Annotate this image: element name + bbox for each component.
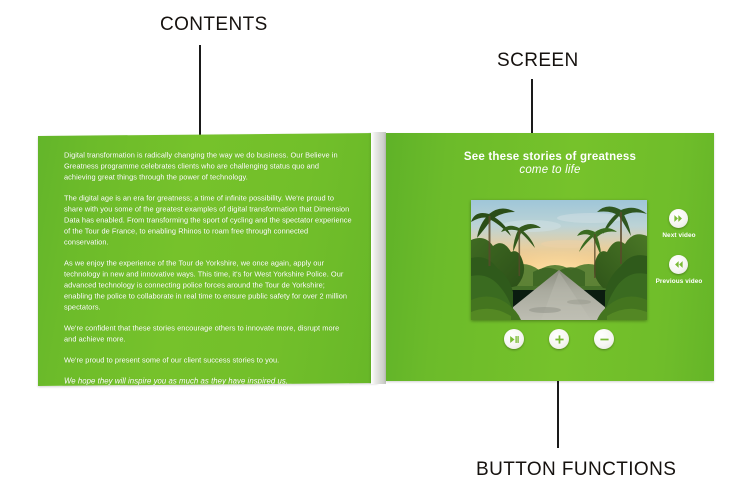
play-pause-icon [509,334,520,345]
letter-paragraph: We're proud to present some of our clien… [64,354,352,365]
letter-paragraph: The digital age is an era for greatness;… [64,192,352,247]
screenshot-canvas: CONTENTS SCREEN BUTTON FUNCTIONS Digital… [0,0,750,500]
tropical-road-scene [471,200,647,320]
brochure-right-page: See these stories of greatness come to l… [386,133,714,381]
play-pause-button[interactable] [504,329,524,349]
letter-paragraph: Digital transformation is radically chan… [64,149,352,182]
letter-body: Digital transformation is radically chan… [64,149,352,385]
next-video-label: Next video [642,232,714,239]
letter-paragraph: We're confident that these stories encou… [64,322,352,344]
brochure-left-page: Digital transformation is radically chan… [38,133,378,386]
volume-down-button[interactable] [594,329,614,349]
previous-video-label: Previous video [636,278,714,285]
previous-video-button[interactable] [669,255,688,274]
annotation-label-screen: SCREEN [497,50,579,72]
headline-line-1: See these stories of greatness [386,151,714,163]
next-video-button[interactable] [669,209,688,228]
video-screen[interactable] [471,200,647,320]
letter-italic-line: We hope they will inspire you as much as… [64,375,352,385]
right-page-headline: See these stories of greatness come to l… [386,151,714,176]
annotation-label-button-functions: BUTTON FUNCTIONS [476,459,676,481]
letter-paragraph: As we enjoy the experience of the Tour d… [64,257,352,312]
minus-icon [599,334,610,345]
volume-up-button[interactable] [549,329,569,349]
headline-line-2: come to life [386,164,714,176]
plus-icon [554,334,565,345]
page-spine [371,132,386,384]
annotation-label-contents: CONTENTS [160,14,268,36]
rewind-icon [674,260,683,269]
fast-forward-icon [674,214,683,223]
